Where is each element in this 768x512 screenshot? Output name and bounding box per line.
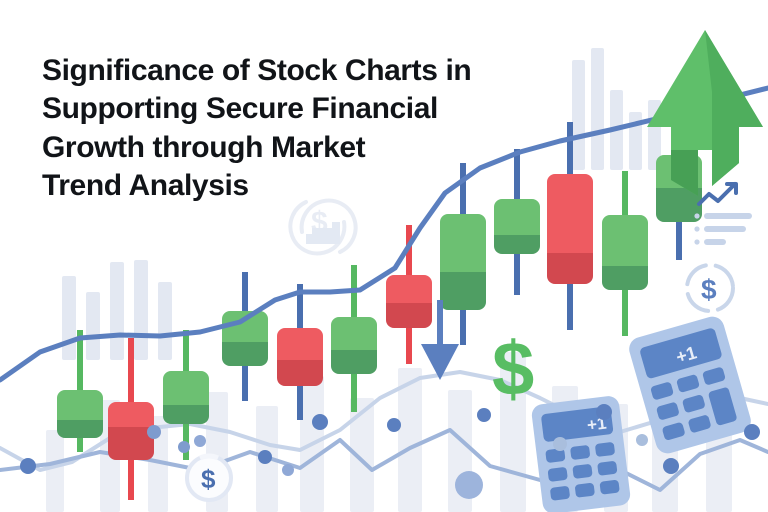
data-point-dot xyxy=(553,437,567,451)
data-point-dot xyxy=(596,404,612,420)
data-point-dot xyxy=(258,450,272,464)
ghost-bar xyxy=(398,368,422,512)
candle-body-upper xyxy=(386,275,432,303)
data-point-dot xyxy=(312,414,328,430)
candle-body-lower xyxy=(163,405,209,424)
dollar-badge-circle: $ xyxy=(187,456,231,500)
candle-body-upper xyxy=(331,317,377,350)
candle-body-upper xyxy=(602,215,648,266)
data-point-dot xyxy=(387,418,401,432)
data-point-dot xyxy=(178,441,190,453)
data-point-dot xyxy=(455,471,483,499)
dollar-sign-icon: $ xyxy=(492,327,534,412)
page-title: Significance of Stock Charts in Supporti… xyxy=(42,52,512,206)
data-point-dot xyxy=(194,435,206,447)
data-point-dot xyxy=(663,458,679,474)
candle-body-upper xyxy=(440,214,486,272)
ghost-bar xyxy=(62,276,76,360)
data-point-dot xyxy=(744,424,760,440)
calculator-icon-b: +1 xyxy=(531,395,632,512)
ghost-bar xyxy=(591,48,604,170)
ghost-bar xyxy=(86,292,100,360)
candle-body-lower xyxy=(57,420,103,438)
candle-body-upper xyxy=(57,390,103,420)
candle-body-lower xyxy=(277,360,323,386)
ghost-bar xyxy=(158,282,172,360)
svg-text:$: $ xyxy=(701,274,717,305)
candle-body-upper xyxy=(277,328,323,360)
svg-text:$: $ xyxy=(201,464,216,494)
ghost-bar xyxy=(110,262,124,360)
ghost-bar xyxy=(572,60,585,170)
candle-body-lower xyxy=(494,235,540,254)
candle-body-lower xyxy=(440,272,486,310)
ghost-bar xyxy=(134,260,148,360)
data-point-dot xyxy=(20,458,36,474)
data-point-dot xyxy=(147,425,161,439)
data-point-dot xyxy=(636,434,648,446)
candle-body-upper xyxy=(163,371,209,405)
candle-body-upper xyxy=(547,174,593,253)
svg-text:$: $ xyxy=(492,327,534,412)
ghost-bar xyxy=(46,430,64,512)
data-point-dot xyxy=(282,464,294,476)
candle-body-lower xyxy=(602,266,648,290)
data-point-dot xyxy=(477,408,491,422)
candle-body-lower xyxy=(331,350,377,374)
illustration-canvas: $ $ $ $ xyxy=(0,0,768,512)
candle-body-lower xyxy=(222,342,268,366)
candle-body-lower xyxy=(547,253,593,284)
candle-body-lower xyxy=(386,303,432,328)
candle-body-upper xyxy=(108,402,154,427)
